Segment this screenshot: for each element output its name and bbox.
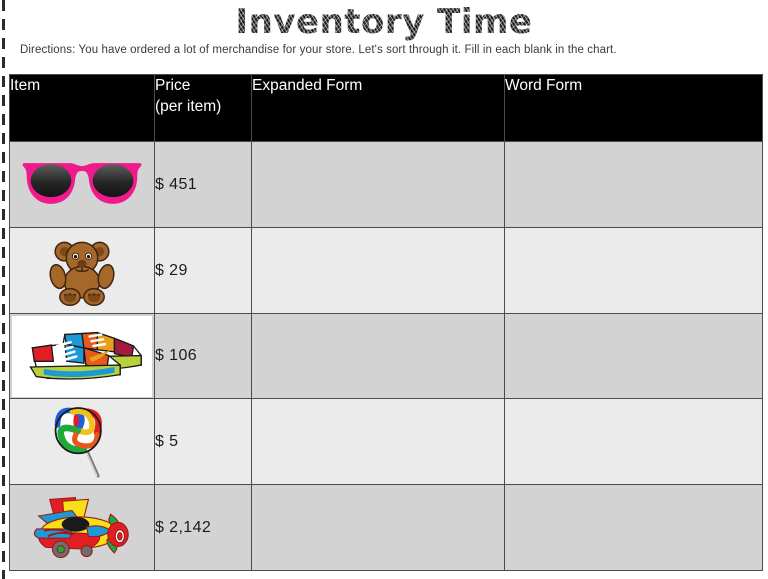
price-cell: $ 451 (155, 142, 252, 228)
column-header-item: Item (10, 75, 155, 142)
word-form-answer-cell[interactable] (505, 314, 763, 399)
item-image-cell (10, 142, 155, 228)
price-cell: $ 29 (155, 228, 252, 314)
table-row: $ 451 (10, 142, 763, 228)
inventory-table: Item Price (per item) Expanded Form Word… (9, 74, 763, 571)
teddy-bear-icon (45, 234, 119, 308)
price-cell: $ 5 (155, 399, 252, 485)
directions-text: Directions: You have ordered a lot of me… (20, 43, 617, 57)
binding-edge-marks (2, 0, 5, 579)
sunglasses-icon (10, 142, 154, 227)
word-form-answer-cell[interactable] (505, 142, 763, 228)
column-header-price-main: Price (155, 77, 190, 94)
column-header-price-sub: (per item) (155, 96, 251, 117)
word-form-answer-cell[interactable] (505, 228, 763, 314)
word-form-answer-cell[interactable] (505, 399, 763, 485)
expanded-form-answer-cell[interactable] (252, 399, 505, 485)
table-row: $ 5 (10, 399, 763, 485)
table-row: $ 29 (10, 228, 763, 314)
expanded-form-answer-cell[interactable] (252, 142, 505, 228)
lollipop-icon (49, 404, 115, 480)
item-image-cell (10, 314, 155, 399)
toy-airplane-icon (10, 485, 154, 570)
sneakers-icon (11, 315, 153, 398)
table-row: $ 106 (10, 314, 763, 399)
table-header-row: Item Price (per item) Expanded Form Word… (10, 75, 763, 142)
sneakers-icon (15, 325, 149, 388)
column-header-word-form: Word Form (505, 75, 763, 142)
lollipop-icon (10, 399, 154, 484)
toy-airplane-icon (20, 492, 144, 564)
table-row: $ 2,142 (10, 485, 763, 571)
title-block: Inventory Time (0, 2, 768, 42)
item-image-cell (10, 399, 155, 485)
price-cell: $ 106 (155, 314, 252, 399)
teddy-bear-icon (10, 228, 154, 313)
page-title: Inventory Time (236, 2, 533, 42)
sunglasses-icon (19, 157, 145, 212)
column-header-price: Price (per item) (155, 75, 252, 142)
item-image-cell (10, 228, 155, 314)
table-body: $ 451 (10, 142, 763, 571)
column-header-expanded-form: Expanded Form (252, 75, 505, 142)
word-form-answer-cell[interactable] (505, 485, 763, 571)
item-image-cell (10, 485, 155, 571)
expanded-form-answer-cell[interactable] (252, 485, 505, 571)
price-cell: $ 2,142 (155, 485, 252, 571)
expanded-form-answer-cell[interactable] (252, 228, 505, 314)
expanded-form-answer-cell[interactable] (252, 314, 505, 399)
